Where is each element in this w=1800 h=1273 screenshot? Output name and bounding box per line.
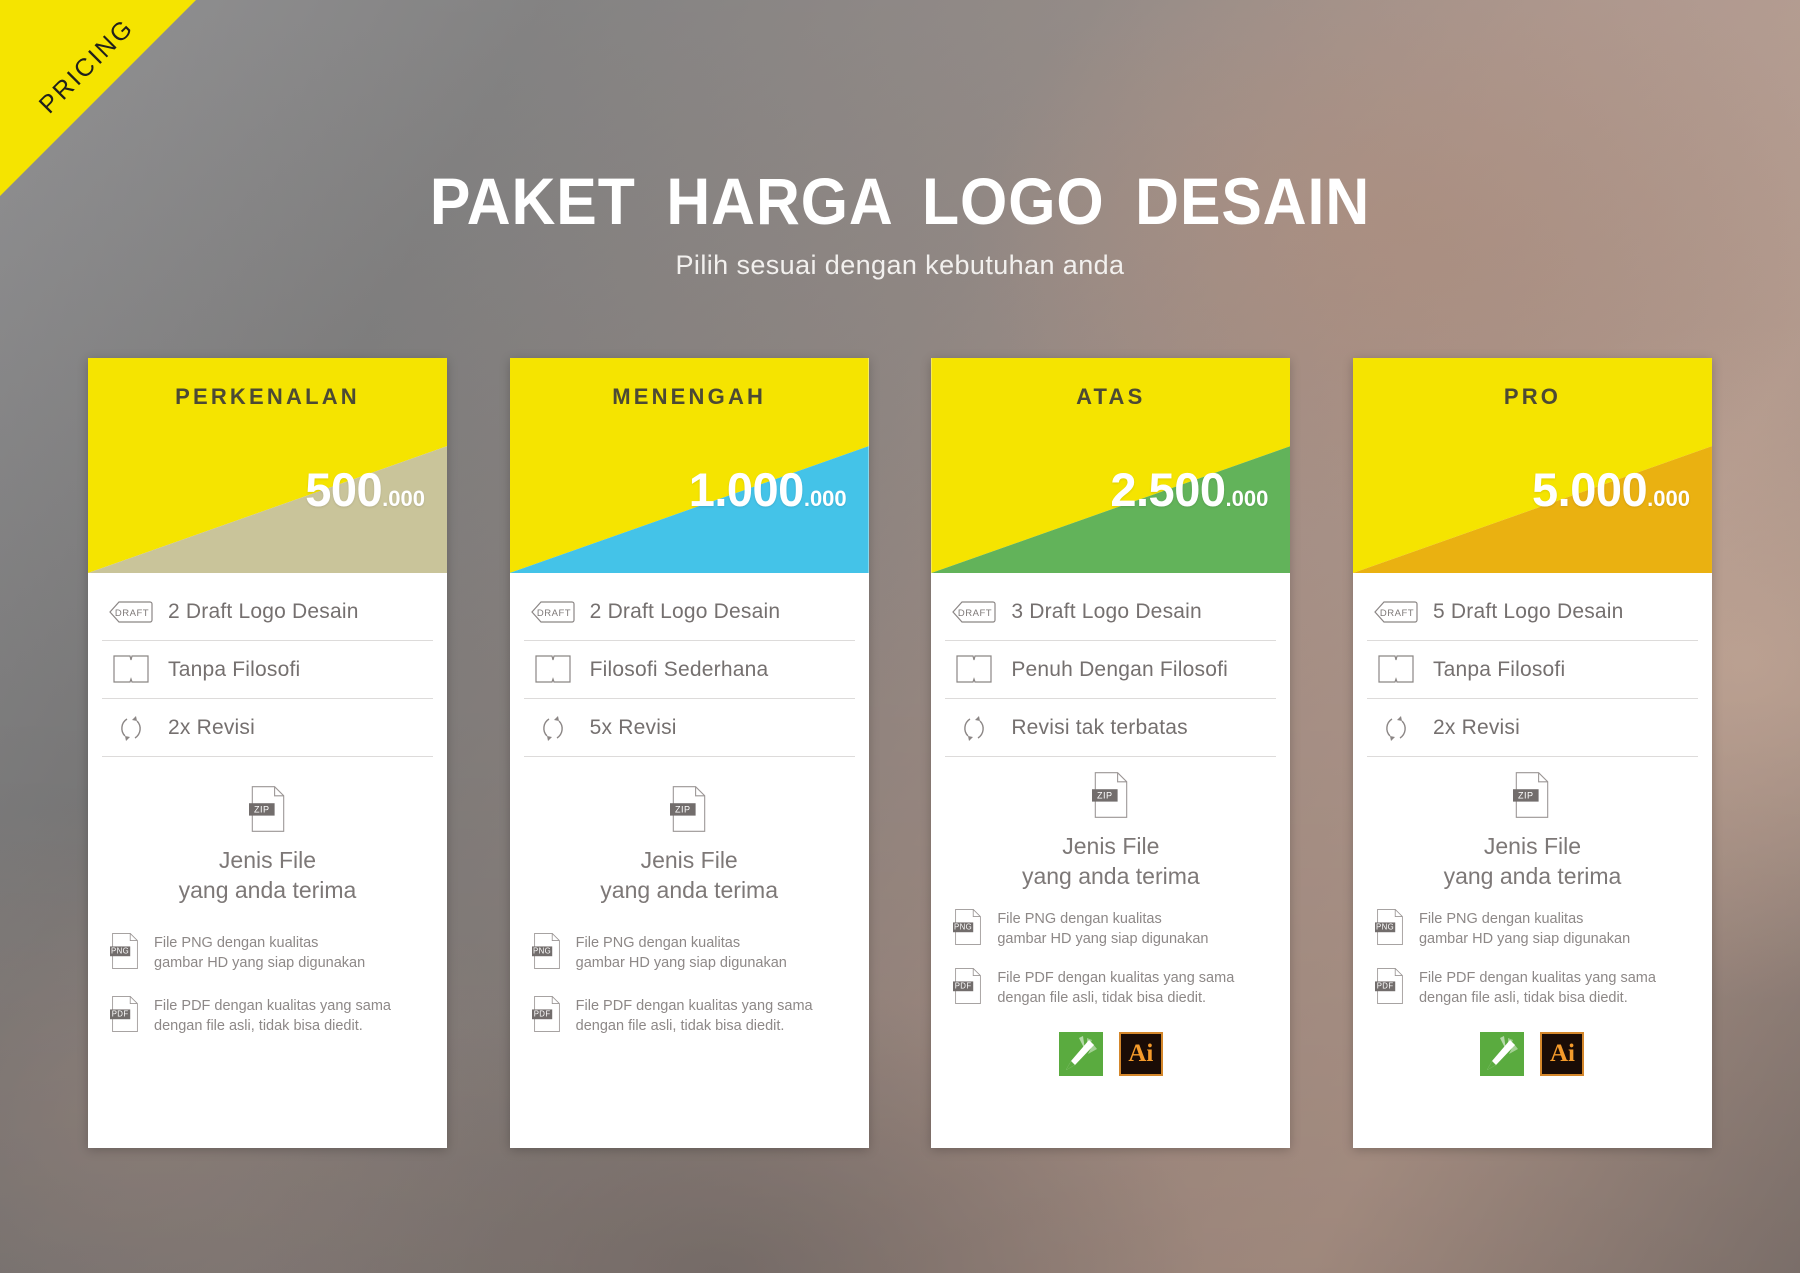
file-type-block: ZIPJenis Fileyang anda terima	[88, 785, 447, 906]
feature-row: Tanpa Filosofi	[1367, 641, 1698, 699]
draft-icon: DRAFT	[1373, 601, 1419, 623]
file-detail-list: PNGFile PNG dengan kualitasgambar HD yan…	[1353, 908, 1712, 1010]
feature-label: 5x Revisi	[590, 716, 677, 740]
file-type-block: ZIPJenis Fileyang anda terima	[931, 771, 1290, 892]
page-title: PAKET HARGA LOGO DESAIN	[72, 168, 1728, 234]
feature-list: DRAFT2 Draft Logo DesainTanpa Filosofi2x…	[88, 583, 447, 757]
feature-row: 2x Revisi	[1367, 699, 1698, 757]
svg-text:PNG: PNG	[954, 922, 972, 931]
svg-text:DRAFT: DRAFT	[1380, 608, 1414, 619]
svg-text:DRAFT: DRAFT	[958, 608, 992, 619]
png-icon: PNG	[532, 932, 562, 975]
svg-text:PDF: PDF	[533, 1009, 550, 1018]
card-header: MENENGAH1.000.000	[510, 358, 869, 583]
plan-price: 500.000	[305, 466, 425, 513]
book-icon	[108, 654, 154, 686]
page-header: PAKET HARGA LOGO DESAIN Pilih sesuai den…	[0, 168, 1800, 281]
file-caption-line1: Jenis File	[510, 845, 869, 875]
svg-text:DRAFT: DRAFT	[115, 608, 149, 619]
card-header: ATAS2.500.000	[931, 358, 1290, 583]
png-icon: PNG	[953, 908, 983, 951]
png-description: File PNG dengan kualitasgambar HD yang s…	[154, 933, 365, 973]
file-caption-line2: yang anda terima	[931, 861, 1290, 891]
file-caption-line2: yang anda terima	[88, 875, 447, 905]
source-file-apps: Ai	[1353, 1032, 1712, 1076]
feature-row: Tanpa Filosofi	[102, 641, 433, 699]
pdf-description: File PDF dengan kualitas yang samadengan…	[576, 996, 813, 1036]
feature-row: DRAFT3 Draft Logo Desain	[945, 583, 1276, 641]
zip-icon: ZIP	[510, 785, 869, 833]
png-description: File PNG dengan kualitasgambar HD yang s…	[1419, 909, 1630, 949]
feature-row: Filosofi Sederhana	[524, 641, 855, 699]
feature-label: 2x Revisi	[168, 716, 255, 740]
revision-icon	[1373, 711, 1419, 745]
png-text-line1: File PNG dengan kualitas	[154, 935, 318, 951]
file-detail-row-pdf: PDFFile PDF dengan kualitas yang samaden…	[953, 967, 1268, 1010]
feature-label: 5 Draft Logo Desain	[1433, 600, 1624, 624]
price-decimals: .000	[382, 486, 425, 511]
file-caption-line1: Jenis File	[1353, 831, 1712, 861]
feature-row: Revisi tak terbatas	[945, 699, 1276, 757]
pdf-description: File PDF dengan kualitas yang samadengan…	[1419, 968, 1656, 1008]
zip-icon: ZIP	[931, 771, 1290, 819]
feature-label: Penuh Dengan Filosofi	[1011, 658, 1228, 682]
feature-row: DRAFT5 Draft Logo Desain	[1367, 583, 1698, 641]
pricing-card-list: PERKENALAN500.000DRAFT2 Draft Logo Desai…	[88, 358, 1712, 1148]
pdf-description: File PDF dengan kualitas yang samadengan…	[154, 996, 391, 1036]
svg-text:ZIP: ZIP	[1518, 790, 1534, 800]
feature-list: DRAFT2 Draft Logo DesainFilosofi Sederha…	[510, 583, 869, 757]
svg-text:PDF: PDF	[112, 1009, 129, 1018]
svg-text:PNG: PNG	[111, 946, 129, 955]
file-caption-line2: yang anda terima	[1353, 861, 1712, 891]
plan-price: 5.000.000	[1532, 466, 1690, 513]
file-detail-list: PNGFile PNG dengan kualitasgambar HD yan…	[88, 932, 447, 1038]
feature-row: DRAFT2 Draft Logo Desain	[102, 583, 433, 641]
feature-list: DRAFT5 Draft Logo DesainTanpa Filosofi2x…	[1353, 583, 1712, 757]
feature-label: 2x Revisi	[1433, 716, 1520, 740]
file-caption-line1: Jenis File	[88, 845, 447, 875]
feature-label: Tanpa Filosofi	[168, 658, 300, 682]
feature-row: DRAFT2 Draft Logo Desain	[524, 583, 855, 641]
png-text-line2: gambar HD yang siap digunakan	[997, 931, 1208, 947]
plan-name: PERKENALAN	[88, 384, 447, 410]
file-detail-row-pdf: PDFFile PDF dengan kualitas yang samaden…	[110, 995, 425, 1038]
zip-icon: ZIP	[1353, 771, 1712, 819]
png-text-line2: gambar HD yang siap digunakan	[154, 955, 365, 971]
source-file-apps: Ai	[931, 1032, 1290, 1076]
png-icon: PNG	[1375, 908, 1405, 951]
file-detail-list: PNGFile PNG dengan kualitasgambar HD yan…	[510, 932, 869, 1038]
svg-text:ZIP: ZIP	[253, 804, 269, 814]
png-description: File PNG dengan kualitasgambar HD yang s…	[997, 909, 1208, 949]
price-value: 2.500	[1110, 463, 1225, 516]
file-detail-row-png: PNGFile PNG dengan kualitasgambar HD yan…	[1375, 908, 1690, 951]
pdf-icon: PDF	[1375, 967, 1405, 1010]
feature-row: 2x Revisi	[102, 699, 433, 757]
file-type-block: ZIPJenis Fileyang anda terima	[1353, 771, 1712, 892]
illustrator-label: Ai	[1128, 1041, 1153, 1066]
pdf-text-line1: File PDF dengan kualitas yang sama	[154, 998, 391, 1014]
file-caption-line1: Jenis File	[931, 831, 1290, 861]
svg-text:ZIP: ZIP	[1097, 790, 1113, 800]
plan-name: PRO	[1353, 384, 1712, 410]
file-caption: Jenis Fileyang anda terima	[510, 845, 869, 906]
svg-text:PDF: PDF	[1377, 981, 1394, 990]
png-text-line2: gambar HD yang siap digunakan	[576, 955, 787, 971]
price-decimals: .000	[804, 486, 847, 511]
price-value: 500	[305, 463, 382, 516]
book-icon	[951, 654, 997, 686]
revision-icon	[951, 711, 997, 745]
illustrator-icon: Ai	[1119, 1032, 1163, 1076]
revision-icon	[530, 711, 576, 745]
zip-icon: ZIP	[88, 785, 447, 833]
card-header: PERKENALAN500.000	[88, 358, 447, 583]
feature-label: Tanpa Filosofi	[1433, 658, 1565, 682]
card-header: PRO5.000.000	[1353, 358, 1712, 583]
png-text-line1: File PNG dengan kualitas	[576, 935, 740, 951]
pdf-description: File PDF dengan kualitas yang samadengan…	[997, 968, 1234, 1008]
svg-text:PNG: PNG	[1376, 922, 1394, 931]
pricing-page: PRICING PAKET HARGA LOGO DESAIN Pilih se…	[0, 0, 1800, 1273]
file-caption: Jenis Fileyang anda terima	[931, 831, 1290, 892]
png-text-line2: gambar HD yang siap digunakan	[1419, 931, 1630, 947]
feature-label: Filosofi Sederhana	[590, 658, 769, 682]
plan-price: 1.000.000	[689, 466, 847, 513]
file-caption: Jenis Fileyang anda terima	[88, 845, 447, 906]
pdf-text-line1: File PDF dengan kualitas yang sama	[576, 998, 813, 1014]
png-text-line1: File PNG dengan kualitas	[1419, 911, 1583, 927]
pdf-text-line2: dengan file asli, tidak bisa diedit.	[576, 1018, 785, 1034]
book-icon	[530, 654, 576, 686]
svg-text:PNG: PNG	[533, 946, 551, 955]
draft-icon: DRAFT	[108, 601, 154, 623]
pricing-card[interactable]: MENENGAH1.000.000DRAFT2 Draft Logo Desai…	[510, 358, 869, 1148]
pricing-card[interactable]: PRO5.000.000DRAFT5 Draft Logo DesainTanp…	[1353, 358, 1712, 1148]
draft-icon: DRAFT	[530, 601, 576, 623]
file-detail-list: PNGFile PNG dengan kualitasgambar HD yan…	[931, 908, 1290, 1010]
file-caption: Jenis Fileyang anda terima	[1353, 831, 1712, 892]
svg-text:PDF: PDF	[955, 981, 972, 990]
pdf-text-line1: File PDF dengan kualitas yang sama	[997, 970, 1234, 986]
pricing-card[interactable]: ATAS2.500.000DRAFT3 Draft Logo DesainPen…	[931, 358, 1290, 1148]
file-detail-row-png: PNGFile PNG dengan kualitasgambar HD yan…	[532, 932, 847, 975]
plan-name: ATAS	[931, 384, 1290, 410]
file-detail-row-pdf: PDFFile PDF dengan kualitas yang samaden…	[1375, 967, 1690, 1010]
png-icon: PNG	[110, 932, 140, 975]
revision-icon	[108, 711, 154, 745]
coreldraw-icon	[1059, 1032, 1103, 1076]
draft-icon: DRAFT	[951, 601, 997, 623]
ribbon-triangle	[0, 0, 196, 196]
pdf-icon: PDF	[532, 995, 562, 1038]
feature-list: DRAFT3 Draft Logo DesainPenuh Dengan Fil…	[931, 583, 1290, 757]
feature-label: 3 Draft Logo Desain	[1011, 600, 1202, 624]
file-detail-row-png: PNGFile PNG dengan kualitasgambar HD yan…	[110, 932, 425, 975]
png-description: File PNG dengan kualitasgambar HD yang s…	[576, 933, 787, 973]
feature-row: Penuh Dengan Filosofi	[945, 641, 1276, 699]
pdf-icon: PDF	[953, 967, 983, 1010]
feature-label: 2 Draft Logo Desain	[590, 600, 781, 624]
pdf-text-line2: dengan file asli, tidak bisa diedit.	[1419, 990, 1628, 1006]
pricing-corner-ribbon: PRICING	[0, 0, 200, 200]
illustrator-icon: Ai	[1540, 1032, 1584, 1076]
pdf-text-line2: dengan file asli, tidak bisa diedit.	[997, 990, 1206, 1006]
file-detail-row-png: PNGFile PNG dengan kualitasgambar HD yan…	[953, 908, 1268, 951]
pricing-card[interactable]: PERKENALAN500.000DRAFT2 Draft Logo Desai…	[88, 358, 447, 1148]
file-detail-row-pdf: PDFFile PDF dengan kualitas yang samaden…	[532, 995, 847, 1038]
page-subtitle: Pilih sesuai dengan kebutuhan anda	[0, 250, 1800, 281]
feature-label: 2 Draft Logo Desain	[168, 600, 359, 624]
plan-price: 2.500.000	[1110, 466, 1268, 513]
pdf-text-line2: dengan file asli, tidak bisa diedit.	[154, 1018, 363, 1034]
file-type-block: ZIPJenis Fileyang anda terima	[510, 785, 869, 906]
illustrator-label: Ai	[1550, 1041, 1575, 1066]
plan-name: MENENGAH	[510, 384, 869, 410]
book-icon	[1373, 654, 1419, 686]
pdf-text-line1: File PDF dengan kualitas yang sama	[1419, 970, 1656, 986]
pdf-icon: PDF	[110, 995, 140, 1038]
coreldraw-icon	[1480, 1032, 1524, 1076]
price-value: 5.000	[1532, 463, 1647, 516]
price-decimals: .000	[1647, 486, 1690, 511]
feature-row: 5x Revisi	[524, 699, 855, 757]
svg-text:DRAFT: DRAFT	[537, 608, 571, 619]
svg-text:ZIP: ZIP	[675, 804, 691, 814]
png-text-line1: File PNG dengan kualitas	[997, 911, 1161, 927]
price-value: 1.000	[689, 463, 804, 516]
feature-label: Revisi tak terbatas	[1011, 716, 1188, 740]
price-decimals: .000	[1225, 486, 1268, 511]
file-caption-line2: yang anda terima	[510, 875, 869, 905]
